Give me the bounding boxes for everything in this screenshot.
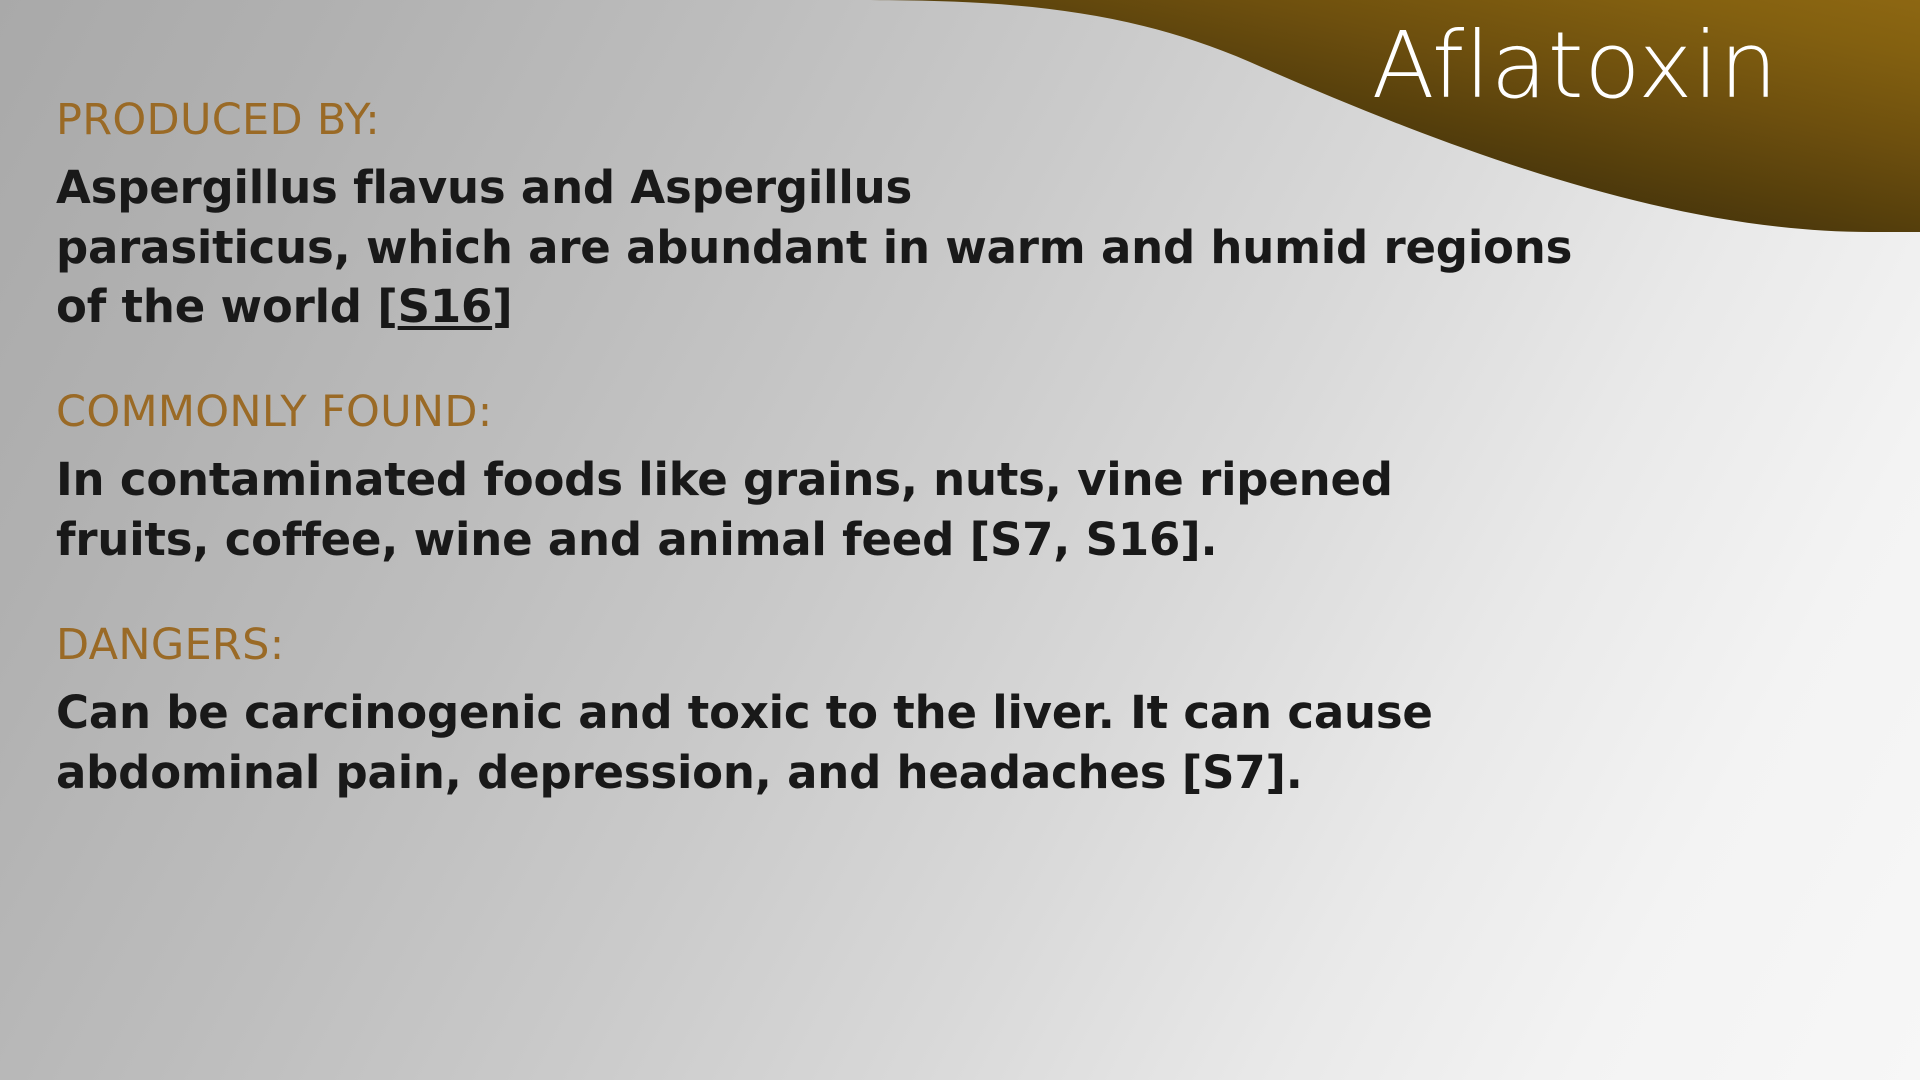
section-produced-by: PRODUCED BY: Aspergillus flavus and Aspe… [56, 96, 1866, 336]
section-commonly-found: COMMONLY FOUND: In contaminated foods li… [56, 388, 1866, 569]
section-dangers: DANGERS: Can be carcinogenic and toxic t… [56, 621, 1866, 802]
section-spacer [56, 336, 1866, 388]
body-line: abdominal pain, depression, and headache… [56, 746, 1303, 799]
body-line-text: ] [492, 280, 512, 333]
content-body: PRODUCED BY: Aspergillus flavus and Aspe… [56, 96, 1866, 802]
section-body-dangers: Can be carcinogenic and toxic to the liv… [56, 683, 1866, 802]
section-body-produced-by: Aspergillus flavus and Aspergillus paras… [56, 158, 1866, 336]
body-line: parasiticus, which are abundant in warm … [56, 221, 1572, 274]
body-line-text: of the world [ [56, 280, 398, 333]
section-heading-produced-by: PRODUCED BY: [56, 96, 1866, 144]
body-line: In contaminated foods like grains, nuts,… [56, 453, 1393, 506]
slide-canvas: Aflatoxin PRODUCED BY: Aspergillus flavu… [0, 0, 1920, 1080]
section-heading-dangers: DANGERS: [56, 621, 1866, 669]
section-body-commonly-found: In contaminated foods like grains, nuts,… [56, 450, 1866, 569]
section-spacer [56, 569, 1866, 621]
body-line-with-citation: of the world [S16] [56, 280, 512, 333]
body-line: Can be carcinogenic and toxic to the liv… [56, 686, 1433, 739]
citation-link-s16[interactable]: S16 [398, 280, 492, 333]
section-heading-commonly-found: COMMONLY FOUND: [56, 388, 1866, 436]
body-line: Aspergillus flavus and Aspergillus [56, 161, 912, 214]
body-line: fruits, coffee, wine and animal feed [S7… [56, 513, 1217, 566]
